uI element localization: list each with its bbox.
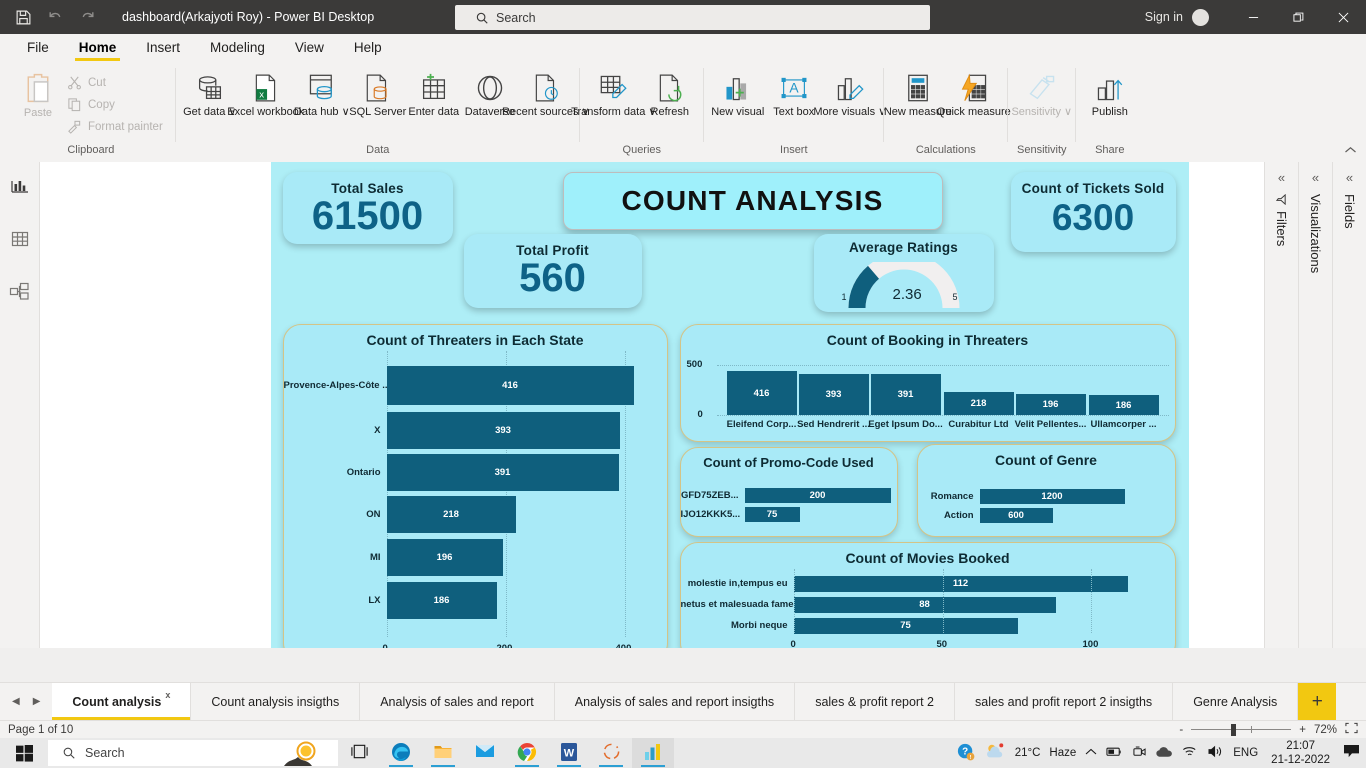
bar-value: 600 bbox=[980, 508, 1053, 523]
format-painter-label: Format painter bbox=[88, 121, 163, 133]
ribbon-group-label-data: Data bbox=[182, 144, 574, 160]
expand-filters-icon[interactable]: « bbox=[1278, 171, 1285, 184]
axis-tick-0: 0 bbox=[383, 643, 388, 648]
ribbon-group-label-sensitivity: Sensitivity bbox=[1014, 144, 1070, 160]
transform-data-button[interactable]: Transform data ∨ bbox=[586, 67, 642, 121]
sensitivity-button[interactable]: Sensitivity ∨ bbox=[1014, 67, 1070, 121]
gauge-max-label: 5 bbox=[953, 292, 958, 302]
bar-value: 196 bbox=[387, 539, 503, 576]
ribbon-group-insert: New visual A Text box bbox=[704, 62, 884, 160]
excel-workbook-label: Excel workbook bbox=[227, 106, 304, 119]
temperature-label: 21°C bbox=[1015, 747, 1041, 759]
bar-label: ON bbox=[284, 509, 387, 520]
more-visuals-button[interactable]: More visuals ∨ bbox=[822, 67, 878, 121]
column-label: Velit Pellentes... bbox=[1012, 419, 1090, 430]
chrome-icon[interactable] bbox=[506, 738, 548, 768]
global-search-box[interactable]: Search bbox=[455, 5, 930, 30]
zoom-slider[interactable] bbox=[1191, 724, 1291, 736]
prev-page-button[interactable]: ◀ bbox=[12, 696, 20, 707]
report-view-icon[interactable] bbox=[4, 172, 36, 202]
bar-row[interactable]: X 393 bbox=[284, 409, 667, 451]
windows-taskbar: Search bbox=[0, 738, 1366, 768]
bar-label: Action bbox=[918, 510, 980, 521]
quick-measure-icon bbox=[959, 69, 989, 103]
ribbon-group-queries: Transform data ∨ Refresh Queries bbox=[580, 62, 704, 160]
report-title-banner[interactable]: COUNT ANALYSIS bbox=[563, 172, 943, 230]
enter-data-icon bbox=[420, 69, 448, 103]
cut-button[interactable]: Cut bbox=[64, 73, 170, 92]
data-hub-button[interactable]: Data hub ∨ bbox=[294, 67, 350, 121]
expand-fields-icon[interactable]: « bbox=[1346, 171, 1353, 184]
bar-value: 416 bbox=[387, 366, 634, 405]
next-page-button[interactable]: ▶ bbox=[33, 696, 41, 707]
bar-label: LX bbox=[284, 595, 387, 606]
ribbon-group-label-insert: Insert bbox=[710, 144, 878, 160]
bar-label: Romance bbox=[918, 491, 980, 502]
bar-value: 112 bbox=[794, 576, 1128, 592]
visual-title-booking: Count of Booking in Threaters bbox=[681, 325, 1175, 348]
bar-row[interactable]: MI 196 bbox=[284, 536, 667, 579]
sql-server-icon bbox=[364, 69, 392, 103]
gridline bbox=[717, 365, 1169, 366]
data-hub-icon bbox=[308, 69, 336, 103]
column-value[interactable]: 186 bbox=[1089, 395, 1159, 415]
fit-to-page-icon[interactable] bbox=[1345, 722, 1358, 737]
more-visuals-icon bbox=[835, 69, 865, 103]
quick-measure-button[interactable]: Quick measure bbox=[946, 67, 1002, 121]
gauge-min-label: 1 bbox=[842, 292, 847, 302]
bar-label: Ontario bbox=[284, 467, 387, 478]
ribbon-group-label-share: Share bbox=[1082, 144, 1138, 160]
right-pane-strip: « Filters « Visualizations « Fields bbox=[1264, 162, 1366, 648]
page-tab-sales-profit-report-2[interactable]: sales & profit report 2 bbox=[795, 683, 955, 720]
clock-date: 21-12-2022 bbox=[1271, 753, 1330, 767]
edge-icon[interactable] bbox=[380, 738, 422, 768]
wifi-icon[interactable] bbox=[1182, 745, 1198, 761]
power-bi-desktop-window: dashboard(Arkajyoti Roy) - Power BI Desk… bbox=[0, 0, 1366, 768]
report-page[interactable]: Total Sales 61500 COUNT ANALYSIS Count o… bbox=[271, 162, 1189, 648]
bar-value: 186 bbox=[387, 582, 497, 619]
kpi-value-total-profit: 560 bbox=[464, 258, 642, 298]
page-tab-analysis-of-sales-and-report-insigths[interactable]: Analysis of sales and report insigths bbox=[555, 683, 795, 720]
axis-tick-400: 400 bbox=[616, 643, 632, 648]
bar-value: 391 bbox=[387, 454, 619, 491]
maximize-restore-button[interactable] bbox=[1276, 0, 1321, 34]
visual-count-of-genre[interactable]: Count of Genre Romance 1200 Action 600 bbox=[917, 444, 1176, 537]
ribbon-group-sensitivity: Sensitivity ∨ Sensitivity bbox=[1008, 62, 1076, 160]
model-view-icon[interactable] bbox=[4, 276, 36, 306]
transform-data-icon bbox=[599, 69, 629, 103]
page-tab-count-analysis-insigths[interactable]: Count analysis insigths bbox=[191, 683, 360, 720]
data-view-icon[interactable] bbox=[4, 224, 36, 254]
svg-text:A: A bbox=[789, 80, 799, 96]
page-tab-label: Count analysis bbox=[72, 695, 161, 709]
axis-tick-0: 0 bbox=[698, 409, 703, 420]
bar-row[interactable]: netus et malesuada fames 88 bbox=[681, 594, 1175, 615]
bar-label: GFD75ZEB... bbox=[681, 490, 745, 501]
add-page-button[interactable]: + bbox=[1298, 683, 1336, 720]
search-highlight-image bbox=[266, 740, 338, 766]
title-bar-right: Sign in bbox=[1145, 0, 1366, 34]
camera-icon[interactable] bbox=[1132, 745, 1147, 761]
page-tab-count-analysis[interactable]: Count analysis x bbox=[52, 683, 191, 720]
sensitivity-label: Sensitivity ∨ bbox=[1011, 106, 1072, 119]
gauge-value: 2.36 bbox=[893, 286, 922, 303]
column-value[interactable]: 196 bbox=[1016, 394, 1086, 415]
ribbon-tab-strip: File Home Insert Modeling View Help bbox=[0, 34, 1366, 62]
kpi-title-total-profit: Total Profit bbox=[464, 234, 642, 258]
undo-icon[interactable] bbox=[46, 8, 64, 26]
ribbon-group-data: Get data ∨ x Excel workbook bbox=[176, 62, 580, 160]
search-icon bbox=[475, 11, 489, 25]
filter-icon bbox=[1276, 194, 1287, 205]
bar-value: 75 bbox=[745, 507, 800, 522]
new-visual-button[interactable]: New visual bbox=[710, 67, 766, 121]
format-painter-button[interactable]: Format painter bbox=[64, 117, 170, 136]
bar-label: X bbox=[284, 425, 387, 436]
close-button[interactable] bbox=[1321, 0, 1366, 34]
avatar[interactable] bbox=[1192, 9, 1209, 26]
visual-threaters-in-each-state[interactable]: Count of Threaters in Each State Provenc… bbox=[283, 324, 668, 648]
svg-text:W: W bbox=[564, 748, 575, 760]
bar-row[interactable]: Provence-Alpes-Côte ... 416 bbox=[284, 361, 667, 409]
page-tab-bar: ◀ ▶ Count analysis x Count analysis insi… bbox=[0, 682, 1366, 720]
language-indicator[interactable]: ENG bbox=[1233, 747, 1258, 759]
enter-data-label: Enter data bbox=[408, 106, 459, 119]
bar-row[interactable]: ON 218 bbox=[284, 493, 667, 536]
visualizations-pane[interactable]: « Visualizations bbox=[1298, 162, 1332, 648]
visual-promo-code-used[interactable]: Count of Promo-Code Used GFD75ZEB... 200… bbox=[680, 447, 898, 537]
ribbon-group-label-calculations: Calculations bbox=[890, 144, 1002, 160]
refresh-icon bbox=[656, 69, 684, 103]
cut-label: Cut bbox=[88, 77, 106, 89]
ribbon-tab-help[interactable]: Help bbox=[341, 37, 395, 59]
refresh-button[interactable]: Refresh bbox=[642, 67, 698, 121]
zoom-control: - + 72% bbox=[1179, 722, 1358, 737]
column-label: Curabitur Ltd bbox=[940, 419, 1018, 430]
refresh-label: Refresh bbox=[651, 106, 690, 119]
zoom-in-button[interactable]: + bbox=[1299, 724, 1306, 736]
bar-value: 393 bbox=[387, 412, 620, 449]
axis-tick-0: 0 bbox=[791, 639, 796, 648]
ribbon-body: Paste Cut Copy bbox=[0, 62, 1366, 160]
column-label: Sed Hendrerit ... bbox=[795, 419, 873, 430]
paste-button[interactable]: Paste bbox=[12, 67, 64, 119]
battery-icon[interactable] bbox=[1106, 745, 1123, 761]
redo-icon[interactable] bbox=[78, 8, 96, 26]
bar-value: 200 bbox=[745, 488, 891, 503]
bar-row[interactable]: Romance 1200 bbox=[918, 487, 1175, 506]
page-status-text: Page 1 of 10 bbox=[8, 724, 73, 736]
page-title: COUNT ANALYSIS bbox=[621, 185, 883, 217]
column-value[interactable]: 218 bbox=[944, 392, 1014, 415]
view-switcher-rail bbox=[0, 162, 40, 648]
zoom-slider-thumb[interactable] bbox=[1231, 724, 1236, 736]
title-bar: dashboard(Arkajyoti Roy) - Power BI Desk… bbox=[0, 0, 1366, 34]
recent-sources-icon bbox=[532, 69, 560, 103]
axis-tick-500: 500 bbox=[687, 359, 703, 370]
bar-label: IJO12KKK5... bbox=[681, 509, 745, 520]
bar-row[interactable]: Action 600 bbox=[918, 506, 1175, 525]
word-icon[interactable]: W bbox=[548, 738, 590, 768]
cut-icon bbox=[67, 75, 82, 90]
kpi-title-total-sales: Total Sales bbox=[283, 172, 453, 196]
quick-measure-label: Quick measure bbox=[937, 106, 1011, 119]
column-label: Eleifend Corp... bbox=[723, 419, 801, 430]
column-value[interactable]: 416 bbox=[727, 371, 797, 415]
zoom-level-label: 72% bbox=[1314, 724, 1337, 736]
bar-label: netus et malesuada fames bbox=[681, 599, 794, 610]
dataverse-icon bbox=[475, 69, 505, 103]
text-box-label: Text box bbox=[773, 106, 814, 119]
file-explorer-icon[interactable] bbox=[422, 738, 464, 768]
visualizations-pane-title: Visualizations bbox=[1308, 194, 1323, 273]
gridline bbox=[794, 569, 795, 633]
svg-text:!: ! bbox=[969, 755, 971, 761]
mail-icon[interactable] bbox=[464, 738, 506, 768]
paste-icon bbox=[23, 71, 53, 105]
fields-pane[interactable]: « Fields bbox=[1332, 162, 1366, 648]
bar-rows-threaters: Provence-Alpes-Côte ... 416 X 393 Ontari… bbox=[284, 361, 667, 622]
page-tab-sales-and-profit-report-2-insigths[interactable]: sales and profit report 2 insigths bbox=[955, 683, 1173, 720]
bar-label: molestie in,tempus eu bbox=[681, 578, 794, 589]
new-visual-icon bbox=[723, 69, 753, 103]
status-bar: Page 1 of 10 - + 72% bbox=[0, 720, 1366, 738]
ribbon-group-share: Publish Share bbox=[1076, 62, 1144, 160]
visual-title-threaters: Count of Threaters in Each State bbox=[284, 325, 667, 348]
kpi-card-total-profit[interactable]: Total Profit 560 bbox=[464, 234, 642, 308]
sign-in-link[interactable]: Sign in bbox=[1145, 10, 1183, 24]
tray-overflow-icon[interactable] bbox=[1085, 747, 1097, 760]
system-tray: ? ! 21°C Haze bbox=[957, 739, 1366, 768]
bar-value: 75 bbox=[794, 618, 1018, 634]
bar-label: MI bbox=[284, 552, 387, 563]
more-visuals-label: More visuals ∨ bbox=[813, 106, 886, 119]
publish-label: Publish bbox=[1092, 106, 1128, 119]
minimize-button[interactable] bbox=[1231, 0, 1276, 34]
bar-row[interactable]: GFD75ZEB... 200 bbox=[681, 486, 897, 505]
chevron-up-icon bbox=[1344, 146, 1357, 155]
bar-row[interactable]: LX 186 bbox=[284, 579, 667, 622]
format-painter-icon bbox=[67, 119, 82, 134]
copy-label: Copy bbox=[88, 99, 115, 111]
ribbon-tab-file[interactable]: File bbox=[14, 37, 62, 59]
ribbon-group-label-clipboard: Clipboard bbox=[12, 144, 170, 160]
ribbon-tab-view[interactable]: View bbox=[282, 37, 337, 59]
column-value[interactable]: 391 bbox=[871, 374, 941, 415]
column-label: Ullamcorper ... bbox=[1085, 419, 1163, 430]
clock[interactable]: 21:07 21-12-2022 bbox=[1267, 739, 1334, 768]
zoom-slider-mid-tick bbox=[1251, 726, 1252, 733]
weather-partly-cloudy-icon[interactable] bbox=[984, 743, 1006, 764]
page-tab-nav: ◀ ▶ bbox=[0, 683, 52, 720]
kpi-card-tickets-sold[interactable]: Count of Tickets Sold 6300 bbox=[1011, 172, 1176, 252]
bar-row[interactable]: Morbi neque 75 bbox=[681, 615, 1175, 636]
gauge-card-average-ratings[interactable]: Average Ratings 2.36 1 5 bbox=[814, 234, 994, 312]
excel-icon: x bbox=[252, 69, 280, 103]
task-view-icon[interactable] bbox=[338, 738, 380, 768]
quick-access-toolbar bbox=[0, 8, 96, 26]
new-visual-label: New visual bbox=[711, 106, 764, 119]
save-icon[interactable] bbox=[14, 8, 32, 26]
document-title: dashboard(Arkajyoti Roy) - Power BI Desk… bbox=[122, 10, 374, 24]
enter-data-button[interactable]: Enter data bbox=[406, 67, 462, 121]
copy-icon bbox=[67, 97, 82, 112]
power-bi-icon[interactable] bbox=[632, 738, 674, 768]
publish-icon bbox=[1095, 69, 1125, 103]
filters-pane-label: Filters bbox=[1274, 211, 1289, 246]
volume-icon[interactable] bbox=[1207, 745, 1224, 761]
visual-booking-in-threaters[interactable]: Count of Booking in Threaters 500 0 416 … bbox=[680, 324, 1176, 442]
page-tab-analysis-of-sales-and-report[interactable]: Analysis of sales and report bbox=[360, 683, 555, 720]
ribbon-group-clipboard: Paste Cut Copy bbox=[6, 62, 176, 160]
kpi-card-total-sales[interactable]: Total Sales 61500 bbox=[283, 172, 453, 244]
axis-tick-50: 50 bbox=[937, 639, 948, 648]
ribbon-group-calculations: New measure Quick measure bbox=[884, 62, 1008, 160]
notification-icon[interactable] bbox=[1343, 744, 1360, 762]
onedrive-icon[interactable] bbox=[1156, 746, 1173, 761]
visual-title-movies: Count of Movies Booked bbox=[681, 543, 1175, 566]
axis-tick-100: 100 bbox=[1083, 639, 1099, 648]
bar-row[interactable]: IJO12KKK5... 75 bbox=[681, 505, 897, 524]
windows-start-icon[interactable] bbox=[0, 738, 48, 768]
sql-server-label: SQL Server bbox=[349, 106, 406, 119]
zoom-out-button[interactable]: - bbox=[1179, 724, 1183, 736]
filters-pane-title: Filters bbox=[1274, 194, 1289, 246]
kpi-value-total-sales: 61500 bbox=[283, 196, 453, 236]
kpi-value-tickets-sold: 6300 bbox=[1011, 197, 1176, 236]
loading-icon[interactable] bbox=[590, 738, 632, 768]
ribbon: File Home Insert Modeling View Help Past… bbox=[0, 34, 1366, 162]
close-page-icon[interactable]: x bbox=[165, 690, 170, 700]
column-label: Eget Ipsum Do... bbox=[867, 419, 945, 430]
visual-title-genre: Count of Genre bbox=[918, 445, 1175, 468]
taskbar-search-placeholder: Search bbox=[85, 746, 125, 760]
bar-label: Provence-Alpes-Côte ... bbox=[284, 380, 387, 391]
sensitivity-icon bbox=[1027, 69, 1057, 103]
gauge-title: Average Ratings bbox=[814, 234, 994, 255]
calculator-icon bbox=[904, 69, 932, 103]
filters-pane[interactable]: « Filters bbox=[1264, 162, 1298, 648]
visual-movies-booked[interactable]: Count of Movies Booked molestie in,tempu… bbox=[680, 542, 1176, 648]
gridline bbox=[1091, 569, 1092, 633]
bar-label: Morbi neque bbox=[681, 620, 794, 631]
svg-text:x: x bbox=[259, 90, 264, 101]
bar-value: 1200 bbox=[980, 489, 1125, 504]
copy-button[interactable]: Copy bbox=[64, 95, 170, 114]
text-box-icon: A bbox=[779, 69, 809, 103]
page-tab-genre-analysis[interactable]: Genre Analysis bbox=[1173, 683, 1298, 720]
excel-workbook-button[interactable]: x Excel workbook bbox=[238, 67, 294, 121]
ribbon-group-label-queries: Queries bbox=[586, 144, 698, 160]
expand-visualizations-icon[interactable]: « bbox=[1312, 171, 1319, 184]
recent-sources-button[interactable]: Recent sources ∨ bbox=[518, 67, 574, 121]
collapse-ribbon-button[interactable] bbox=[1344, 144, 1357, 158]
ribbon-tab-home[interactable]: Home bbox=[66, 37, 130, 59]
taskbar-search-input[interactable]: Search bbox=[48, 740, 338, 766]
bar-value: 88 bbox=[794, 597, 1056, 613]
global-search-placeholder: Search bbox=[496, 11, 536, 25]
axis-tick-200: 200 bbox=[497, 643, 513, 648]
publish-button[interactable]: Publish bbox=[1082, 67, 1138, 121]
database-icon bbox=[195, 69, 225, 103]
gridline bbox=[943, 569, 944, 633]
ribbon-tab-modeling[interactable]: Modeling bbox=[197, 37, 278, 59]
help-icon[interactable]: ? ! bbox=[957, 743, 975, 764]
fields-pane-title: Fields bbox=[1342, 194, 1357, 229]
data-hub-label: Data hub ∨ bbox=[294, 106, 350, 119]
bar-row[interactable]: molestie in,tempus eu 112 bbox=[681, 573, 1175, 594]
column-value[interactable]: 393 bbox=[799, 374, 869, 415]
clock-time: 21:07 bbox=[1271, 739, 1330, 753]
zoom-slider-track bbox=[1191, 729, 1291, 730]
taskbar-app-buttons: W bbox=[338, 738, 674, 768]
visual-title-promo: Count of Promo-Code Used bbox=[681, 448, 897, 470]
report-canvas-area[interactable]: Total Sales 61500 COUNT ANALYSIS Count o… bbox=[40, 162, 1264, 648]
ribbon-tab-insert[interactable]: Insert bbox=[133, 37, 193, 59]
bar-row[interactable]: Ontario 391 bbox=[284, 451, 667, 493]
gridline bbox=[717, 415, 1169, 416]
weather-condition-label: Haze bbox=[1049, 747, 1076, 759]
paste-label: Paste bbox=[24, 107, 52, 119]
kpi-title-tickets-sold: Count of Tickets Sold bbox=[1011, 172, 1176, 197]
bar-value: 218 bbox=[387, 496, 516, 533]
sql-server-button[interactable]: SQL Server bbox=[350, 67, 406, 121]
search-icon bbox=[62, 746, 76, 760]
